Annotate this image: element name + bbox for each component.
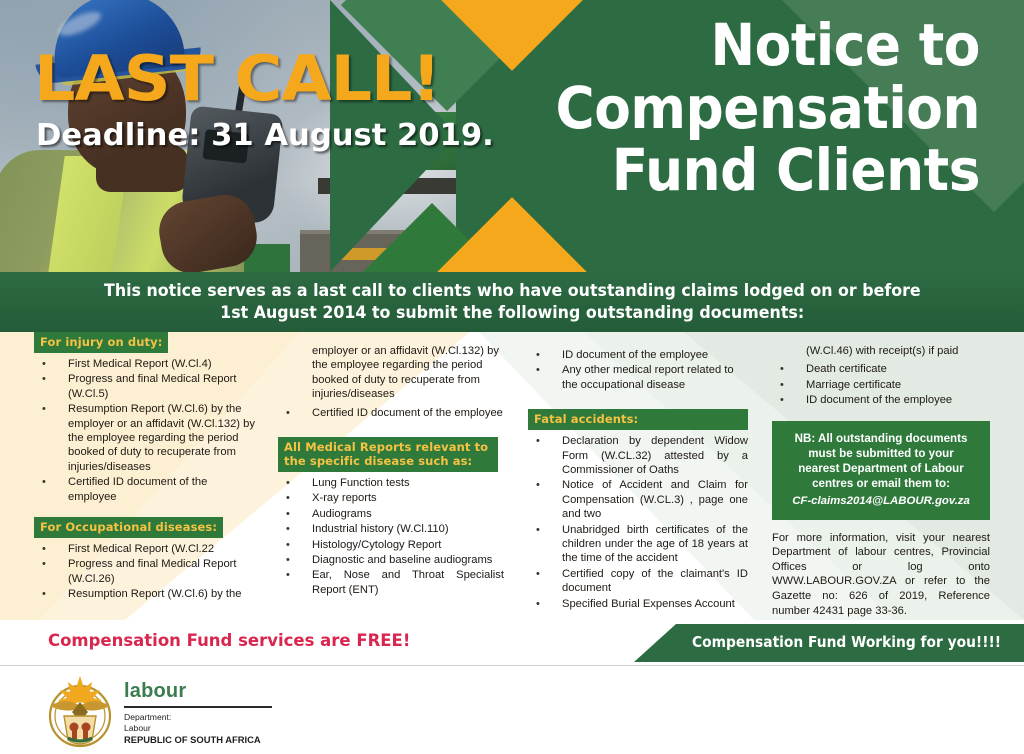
list-item: ID document of the employee xyxy=(528,348,750,362)
column-fatal-accidents: ID document of the employee Any other me… xyxy=(528,332,750,612)
notice-line-1: This notice serves as a last call to cli… xyxy=(104,280,921,302)
working-for-you-flag: Compensation Fund Working for you!!!! xyxy=(634,624,1024,662)
department-line-2: Labour xyxy=(124,723,151,733)
section-heading-occupational: For Occupational diseases: xyxy=(34,517,223,538)
list-item: Specified Burial Expenses Account xyxy=(528,597,750,611)
list-item: Ear, Nose and Throat Specialist Report (… xyxy=(278,568,506,597)
free-services-text: Compensation Fund services are FREE! xyxy=(48,631,410,651)
department-line-1: Department: xyxy=(124,712,171,722)
occupational-extra-list: ID document of the employee Any other me… xyxy=(528,348,750,392)
nb-line-3: nearest Department of Labour xyxy=(798,462,964,475)
last-call-heading: LAST CALL! xyxy=(34,48,440,110)
labour-wordmark: labour Department: Labour REPUBLIC OF SO… xyxy=(124,680,272,746)
poster: LAST CALL! Deadline: 31 August 2019. Not… xyxy=(0,0,1024,754)
title-line-1: Notice to xyxy=(428,14,980,77)
column-medical-reports: employer or an affidavit (W.Cl.132) by t… xyxy=(278,332,506,598)
south-africa-coat-of-arms-icon xyxy=(44,672,116,748)
list-item: Progress and final Medical Report (W.Cl.… xyxy=(34,372,256,401)
list-item: X-ray reports xyxy=(278,491,506,505)
free-services-bar: Compensation Fund services are FREE! Com… xyxy=(0,620,1024,666)
list-item: Certified ID document of the employee xyxy=(34,475,256,504)
column-notes: (W.Cl.46) with receipt(s) if paid Death … xyxy=(772,332,990,618)
list-item: First Medical Report (W.Cl.4) xyxy=(34,357,256,371)
heading-line-2: the specific disease such as: xyxy=(284,454,472,468)
nb-line-1: NB: All outstanding documents xyxy=(795,432,968,445)
labour-word: labour xyxy=(124,680,272,703)
working-for-you-text: Compensation Fund Working for you!!!! xyxy=(692,633,1001,651)
poster-title: Notice to Compensation Fund Clients xyxy=(428,14,980,202)
list-item: Unabridged birth certificates of the chi… xyxy=(528,523,750,566)
nb-notice-box: NB: All outstanding documents must be su… xyxy=(772,421,990,520)
burial-continuation-text: (W.Cl.46) with receipt(s) if paid xyxy=(772,344,990,358)
list-item: Histology/Cytology Report xyxy=(278,538,506,552)
deadline-text: Deadline: 31 August 2019. xyxy=(36,118,494,153)
list-item: Resumption Report (W.Cl.6) by the employ… xyxy=(34,402,256,474)
more-information-text: For more information, visit your nearest… xyxy=(772,531,990,619)
notice-line-2: 1st August 2014 to submit the following … xyxy=(220,302,804,324)
section-heading-injury: For injury on duty: xyxy=(34,332,168,353)
section-heading-fatal: Fatal accidents: xyxy=(528,409,748,430)
list-item: Lung Function tests xyxy=(278,476,506,490)
list-item: First Medical Report (W.Cl.22 xyxy=(34,542,256,556)
wordmark-divider xyxy=(124,706,272,708)
list-item: Certified ID document of the employee xyxy=(278,406,506,420)
footer: labour Department: Labour REPUBLIC OF SO… xyxy=(0,666,1024,754)
occupational-continuation-text: employer or an affidavit (W.Cl.132) by t… xyxy=(278,344,506,402)
notice-banner: This notice serves as a last call to cli… xyxy=(0,272,1024,332)
nb-line-2: must be submitted to your xyxy=(808,447,954,460)
injury-document-list: First Medical Report (W.Cl.4) Progress a… xyxy=(34,357,256,504)
list-item: Declaration by dependent Widow Form (W.C… xyxy=(528,434,750,477)
column-injury-on-duty: For injury on duty: First Medical Report… xyxy=(34,332,256,603)
occupational-document-list: First Medical Report (W.Cl.22 Progress a… xyxy=(34,542,256,602)
list-item: Progress and final Medical Report (W.Cl.… xyxy=(34,557,256,586)
list-item: Resumption Report (W.Cl.6) by the xyxy=(34,587,256,601)
list-item: Marriage certificate xyxy=(772,378,990,392)
section-heading-all-medical-reports: All Medical Reports relevant to the spec… xyxy=(278,437,498,472)
header-banner: LAST CALL! Deadline: 31 August 2019. Not… xyxy=(0,0,1024,272)
list-item: Audiograms xyxy=(278,507,506,521)
list-item: Industrial history (W.Cl.110) xyxy=(278,522,506,536)
list-item: Death certificate xyxy=(772,362,990,376)
contact-email[interactable]: CF-claims2014@LABOUR.gov.za xyxy=(780,494,982,509)
list-item: Any other medical report related to the … xyxy=(528,363,750,392)
list-item: Certified copy of the claimant's ID docu… xyxy=(528,567,750,596)
department-block: Department: Labour REPUBLIC OF SOUTH AFR… xyxy=(124,712,272,746)
fatal-extra-list: Death certificate Marriage certificate I… xyxy=(772,362,990,407)
nb-line-4: centres or email them to: xyxy=(812,477,950,490)
medical-reports-list: Lung Function tests X-ray reports Audiog… xyxy=(278,476,506,597)
heading-line-1: All Medical Reports relevant to xyxy=(284,440,488,454)
title-line-2: Compensation xyxy=(428,77,980,140)
title-line-3: Fund Clients xyxy=(428,139,980,202)
fatal-accidents-list: Declaration by dependent Widow Form (W.C… xyxy=(528,434,750,611)
list-item: Notice of Accident and Claim for Compens… xyxy=(528,478,750,521)
document-body: For injury on duty: First Medical Report… xyxy=(0,332,1024,620)
department-line-3: REPUBLIC OF SOUTH AFRICA xyxy=(124,734,261,745)
list-item: ID document of the employee xyxy=(772,393,990,407)
list-item: Diagnostic and baseline audiograms xyxy=(278,553,506,567)
occupational-continued-list: Certified ID document of the employee xyxy=(278,406,506,420)
